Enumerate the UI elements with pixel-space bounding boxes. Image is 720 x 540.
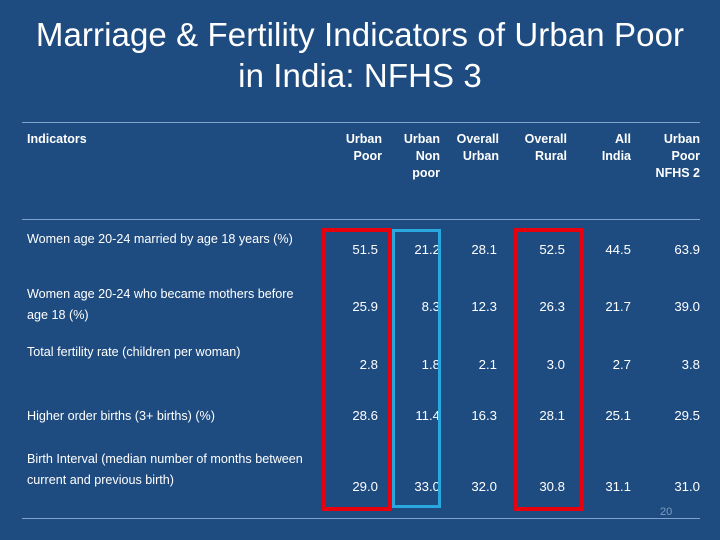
cell-overall-urban: 28.1 [442, 241, 497, 259]
table-row: Higher order births (3+ births) (%) 28.6… [22, 392, 700, 444]
cell-urban-non-poor: 11.4 [384, 407, 440, 425]
indicators-table: Indicators Urban Poor Urban Non poor Ove… [22, 122, 700, 519]
row-label: Women age 20-24 married by age 18 years … [27, 229, 307, 250]
page-title: Marriage & Fertility Indicators of Urban… [26, 14, 694, 96]
row-label: Higher order births (3+ births) (%) [27, 406, 307, 427]
cell-overall-urban: 12.3 [442, 298, 497, 316]
column-header-overall-rural-line2: Rural [507, 148, 567, 165]
table-top-rule [22, 122, 700, 123]
cell-all-india: 44.5 [572, 241, 631, 259]
column-header-urban-non-poor-line1: Urban [382, 131, 440, 148]
cell-urban-poor: 29.0 [318, 478, 378, 496]
cell-overall-rural: 3.0 [509, 356, 565, 374]
cell-urban-poor-nfhs2: 39.0 [634, 298, 700, 316]
cell-overall-rural: 52.5 [509, 241, 565, 259]
column-header-urban-poor-nfhs2: Urban Poor NFHS 2 [634, 131, 700, 182]
slide-number: 20 [660, 506, 690, 519]
row-label: Birth Interval (median number of months … [27, 449, 307, 491]
cell-all-india: 2.7 [572, 356, 631, 374]
column-header-indicators-line1: Indicators [27, 131, 87, 148]
column-header-overall-urban-line1: Overall [442, 131, 499, 148]
cell-urban-poor: 25.9 [318, 298, 378, 316]
column-header-all-india: All India [574, 131, 631, 165]
cell-all-india: 25.1 [572, 407, 631, 425]
cell-urban-poor-nfhs2: 3.8 [634, 356, 700, 374]
cell-overall-urban: 2.1 [442, 356, 497, 374]
cell-overall-urban: 16.3 [442, 407, 497, 425]
cell-urban-non-poor: 21.2 [384, 241, 440, 259]
table-row: Women age 20-24 who became mothers befor… [22, 278, 700, 334]
cell-urban-non-poor: 8.3 [384, 298, 440, 316]
cell-urban-poor: 2.8 [318, 356, 378, 374]
column-header-overall-rural-line1: Overall [507, 131, 567, 148]
column-header-urban-poor-nfhs2-line3: NFHS 2 [634, 165, 700, 182]
cell-overall-rural: 28.1 [509, 407, 565, 425]
column-header-urban-poor-line2: Poor [307, 148, 382, 165]
column-header-urban-poor-nfhs2-line2: Poor [634, 148, 700, 165]
cell-urban-poor-nfhs2: 63.9 [634, 241, 700, 259]
table-row: Total fertility rate (children per woman… [22, 334, 700, 392]
cell-urban-poor-nfhs2: 31.0 [634, 478, 700, 496]
cell-urban-poor: 28.6 [318, 407, 378, 425]
cell-overall-rural: 26.3 [509, 298, 565, 316]
column-header-overall-rural: Overall Rural [507, 131, 567, 165]
table-row: Women age 20-24 married by age 18 years … [22, 220, 700, 278]
cell-all-india: 21.7 [572, 298, 631, 316]
column-header-indicators: Indicators [27, 131, 87, 148]
column-header-urban-non-poor-line2: Non [382, 148, 440, 165]
table-header-row: Indicators Urban Poor Urban Non poor Ove… [22, 125, 700, 219]
column-header-urban-poor-line1: Urban [307, 131, 382, 148]
table-body: Women age 20-24 married by age 18 years … [22, 220, 700, 518]
column-header-all-india-line1: All [574, 131, 631, 148]
column-header-urban-poor: Urban Poor [307, 131, 382, 165]
row-label: Total fertility rate (children per woman… [27, 342, 307, 363]
cell-overall-urban: 32.0 [442, 478, 497, 496]
slide-canvas: Marriage & Fertility Indicators of Urban… [0, 0, 720, 540]
column-header-urban-non-poor: Urban Non poor [382, 131, 440, 182]
row-label: Women age 20-24 who became mothers befor… [27, 284, 307, 326]
table-bottom-rule [22, 518, 700, 519]
cell-all-india: 31.1 [572, 478, 631, 496]
cell-urban-poor-nfhs2: 29.5 [634, 407, 700, 425]
cell-overall-rural: 30.8 [509, 478, 565, 496]
cell-urban-non-poor: 1.8 [384, 356, 440, 374]
column-header-urban-poor-nfhs2-line1: Urban [634, 131, 700, 148]
column-header-overall-urban: Overall Urban [442, 131, 499, 165]
cell-urban-non-poor: 33.0 [384, 478, 440, 496]
column-header-overall-urban-line2: Urban [442, 148, 499, 165]
cell-urban-poor: 51.5 [318, 241, 378, 259]
column-header-urban-non-poor-line3: poor [382, 165, 440, 182]
table-row: Birth Interval (median number of months … [22, 444, 700, 518]
column-header-all-india-line2: India [574, 148, 631, 165]
